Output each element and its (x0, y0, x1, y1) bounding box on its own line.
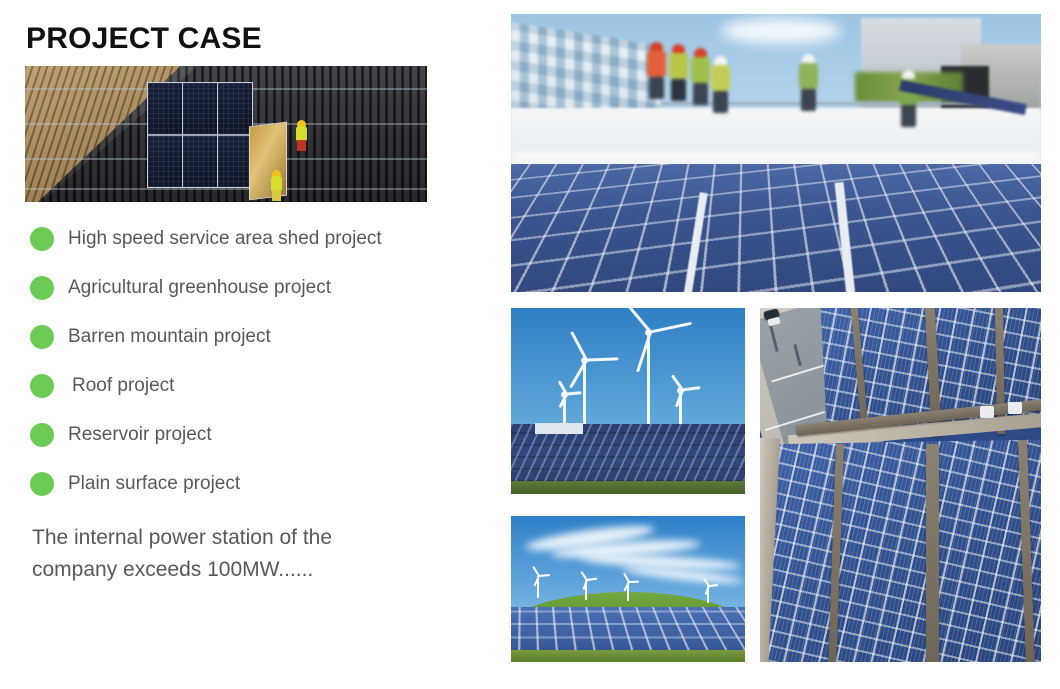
cloud (721, 18, 841, 44)
worker-figure (272, 170, 282, 201)
solar-panel (218, 136, 252, 187)
green-dot-icon (30, 472, 54, 496)
list-item-label: Agricultural greenhouse project (68, 277, 331, 299)
hi-vis-vest (799, 63, 818, 89)
solar-panel (148, 136, 182, 187)
list-item-label: Plain surface project (68, 473, 240, 495)
wind-turbine (647, 332, 650, 424)
hi-vis-vest (691, 57, 710, 83)
list-item[interactable]: Roof project (0, 361, 470, 410)
photo-wind-solar (511, 308, 745, 494)
green-dot-icon (30, 276, 54, 300)
worker-figure (669, 44, 688, 101)
grass-foreground (511, 481, 745, 494)
worker-legs (649, 77, 664, 99)
wind-turbine (585, 580, 587, 600)
worker-legs (297, 140, 306, 151)
support-beam (926, 444, 939, 662)
solar-array (147, 82, 253, 188)
solar-panel (183, 83, 217, 134)
grass-foreground (511, 650, 745, 662)
wind-turbine (679, 390, 682, 424)
capacity-note: The internal power station of the compan… (32, 522, 452, 586)
list-item[interactable]: Plain surface project (0, 459, 470, 508)
hi-vis-vest (647, 51, 666, 77)
site-building (535, 423, 583, 434)
worker-legs (801, 89, 816, 111)
page-title: PROJECT CASE (26, 22, 262, 56)
worker-figure (691, 48, 710, 105)
junction-box (980, 406, 994, 418)
hard-hat-icon (802, 54, 815, 63)
capacity-note-line2: company exceeds 100MW...... (32, 554, 452, 586)
hi-vis-vest (669, 53, 688, 79)
solar-panel-field (511, 164, 1041, 292)
solar-array-block (760, 439, 1041, 662)
project-list: High speed service area shed project Agr… (0, 214, 470, 508)
solar-panel (218, 83, 252, 134)
worker-legs (272, 190, 281, 201)
roof-seam (25, 188, 427, 190)
list-item[interactable]: Agricultural greenhouse project (0, 263, 470, 312)
list-item-label: Reservoir project (68, 424, 212, 446)
worker-legs (713, 91, 728, 113)
hard-hat-icon (650, 42, 663, 51)
green-dot-icon (30, 374, 54, 398)
capacity-note-line1: The internal power station of the (32, 522, 452, 554)
green-dot-icon (30, 227, 54, 251)
photo-rooftop-crew (511, 14, 1041, 292)
worker-figure (297, 120, 307, 151)
photo-grass-solar (511, 516, 745, 662)
hard-hat-icon (672, 44, 685, 53)
list-item-label: High speed service area shed project (68, 228, 382, 250)
photo-roof-install (25, 66, 427, 202)
wind-turbine (627, 582, 629, 601)
slide-root: PROJECT CASE (0, 0, 1060, 689)
worker-figure (799, 54, 818, 111)
wind-turbine (537, 576, 539, 598)
worker-figure (711, 56, 730, 113)
green-dot-icon (30, 325, 54, 349)
wind-turbine (563, 394, 566, 424)
list-item[interactable]: High speed service area shed project (0, 214, 470, 263)
list-item-label: Barren mountain project (68, 326, 271, 348)
left-content-column: PROJECT CASE (0, 0, 500, 689)
worker-legs (901, 105, 916, 127)
list-item-label: Roof project (72, 375, 174, 397)
wind-turbine (583, 360, 586, 426)
list-item[interactable]: Barren mountain project (0, 312, 470, 361)
worker-figure (647, 42, 666, 99)
photo-aerial-array (760, 308, 1041, 662)
solar-panel (148, 83, 182, 134)
worker-figure (899, 70, 918, 127)
list-item[interactable]: Reservoir project (0, 410, 470, 459)
solar-panel (183, 136, 217, 187)
hard-hat-icon (902, 70, 915, 79)
junction-box (1008, 402, 1022, 414)
hi-vis-vest (711, 65, 730, 91)
wind-turbine (707, 586, 709, 603)
worker-legs (693, 83, 708, 105)
worker-legs (671, 79, 686, 101)
hard-hat-icon (694, 48, 707, 57)
hard-hat-icon (714, 56, 727, 65)
green-dot-icon (30, 423, 54, 447)
